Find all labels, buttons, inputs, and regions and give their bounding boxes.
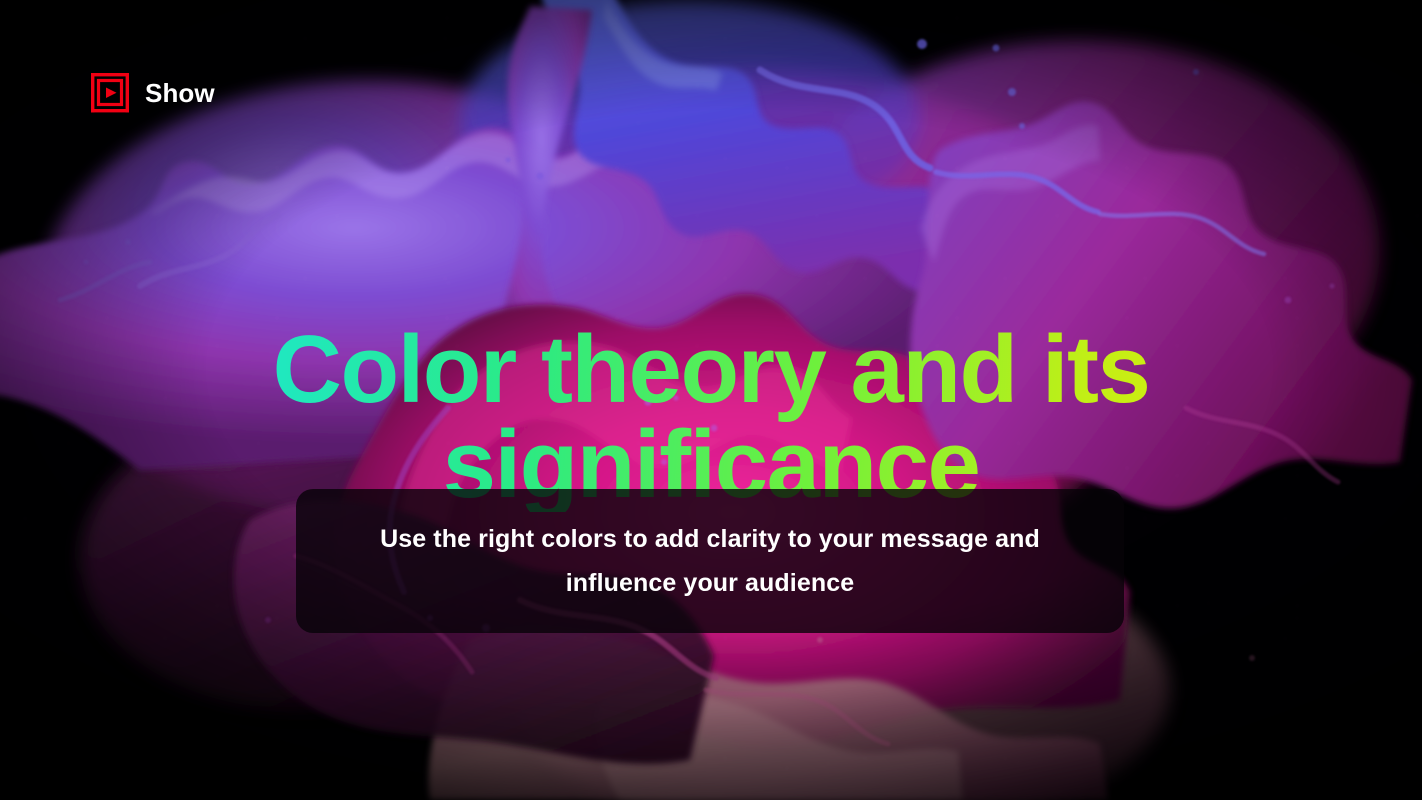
slide-subtitle-panel: Use the right colors to add clarity to y…: [296, 489, 1124, 633]
slide-subtitle-text: Use the right colors to add clarity to y…: [354, 517, 1066, 606]
brand-name-label: Show: [145, 80, 215, 106]
slide-title-line-1: Color theory and its: [110, 322, 1312, 417]
brand-logo[interactable]: Show: [89, 71, 215, 115]
presentation-slide: Show Color theory and its significance U…: [0, 0, 1422, 800]
slide-title: Color theory and its significance: [0, 322, 1422, 512]
show-play-frame-icon: [89, 71, 131, 115]
